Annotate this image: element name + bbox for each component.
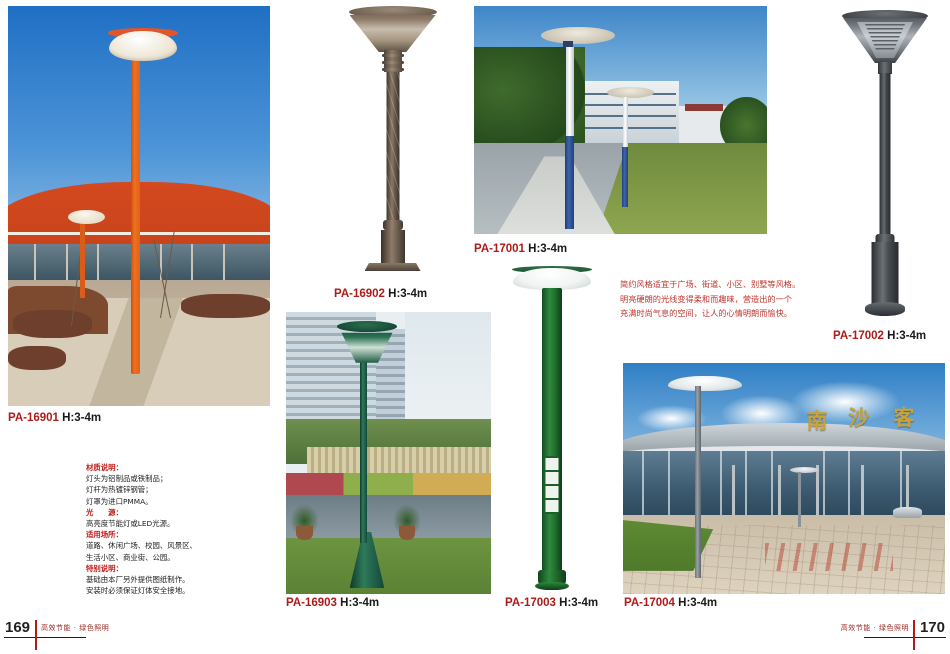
spec-special-heading: 特别说明：	[86, 563, 276, 574]
product-code: PA-16903	[286, 597, 337, 609]
lamp-pole-grey	[695, 386, 701, 578]
pole-ring	[382, 68, 404, 71]
caption-pa-17003: PA-17003 H:3-4m	[505, 597, 598, 609]
blurb-line-3: 充满时尚气息的空间，让人的心情明朗而愉快。	[620, 306, 820, 321]
pole-base-shaft	[872, 242, 899, 304]
lamp-head-dish	[513, 268, 591, 290]
spec-special-line-1: 基础由本厂另外提供图纸制作。	[86, 574, 276, 585]
footer-slogan-left: 高效节能 · 绿色照明	[37, 620, 113, 633]
structural-column	[732, 465, 735, 520]
product-photo-pa-16901	[8, 6, 270, 406]
blurb-line-2: 明亮硬朗的光线变得柔和而趣味，营造出的一个	[620, 292, 820, 307]
product-photo-pa-16903	[286, 312, 491, 594]
window-mullion	[642, 451, 644, 516]
window-mullion	[848, 451, 850, 516]
lamp-pole-blue	[565, 136, 574, 229]
flower-bed	[286, 473, 491, 496]
pole-base-plate	[365, 263, 421, 271]
spec-usage-heading: 适用场所：	[86, 529, 276, 540]
caption-pa-16901: PA-16901 H:3-4m	[8, 412, 101, 424]
spec-material-line-2: 灯杆为热镀锌钢管；	[86, 484, 276, 495]
spec-special-line-2: 安装时必须保证灯体安全接地。	[86, 585, 276, 596]
product-height: H:3-4m	[62, 412, 101, 424]
product-code: PA-17004	[624, 597, 675, 609]
spec-light-heading: 光 源：	[86, 507, 276, 518]
background-lamp-pole	[622, 147, 628, 206]
planter-pot	[296, 526, 312, 540]
lamp-head-dish	[668, 376, 742, 391]
pole-base-shaft	[381, 230, 405, 264]
secondary-building-roof	[685, 104, 723, 111]
lamp-diffuser-column	[566, 47, 574, 136]
parked-car	[893, 507, 922, 517]
pole-collar	[383, 220, 403, 230]
specification-block: 材质说明： 灯头为铝制品或铁制品； 灯杆为热镀锌钢管； 灯罩为进口PMMA。 光…	[86, 462, 276, 596]
caption-pa-17002: PA-17002 H:3-4m	[833, 330, 926, 342]
window-mullion	[771, 451, 773, 516]
page-number-left: 169	[0, 620, 35, 636]
background-lamp-diffuser	[623, 97, 628, 147]
background-lamp-pole	[80, 218, 85, 298]
product-render-pa-17003	[497, 262, 607, 594]
lamp-pole-orange	[131, 46, 140, 374]
page-number-right: 170	[915, 620, 950, 636]
structural-column	[778, 465, 781, 520]
background-lamp-pole	[798, 472, 801, 527]
hedge	[8, 346, 66, 370]
plaza-red-pattern	[765, 543, 894, 571]
product-code: PA-16901	[8, 412, 59, 424]
footer-left: 169 高效节能 · 绿色照明	[0, 620, 113, 650]
pole-twist-texture	[386, 72, 399, 222]
building-sign-char-1: 南	[807, 405, 828, 435]
window-mullion	[668, 451, 670, 516]
pole-window-grid	[546, 456, 559, 514]
product-photo-pa-17004: 南 沙 客	[623, 363, 945, 594]
window-mullion	[745, 451, 747, 516]
product-code: PA-17001	[474, 243, 525, 255]
pole-base-plate	[535, 582, 569, 590]
window-mullion	[34, 244, 36, 280]
building-sign-char-3: 客	[893, 402, 914, 432]
lamp-pole-green	[360, 357, 367, 543]
planter-pot	[399, 526, 415, 540]
product-height: H:3-4m	[340, 597, 379, 609]
product-code: PA-16902	[334, 288, 385, 300]
structural-column	[861, 465, 864, 520]
spec-light-line-1: 高亮度节能灯或LED光源。	[86, 518, 276, 529]
pole-base-plate	[865, 302, 905, 316]
spec-material-line-3: 灯罩为进口PMMA。	[86, 496, 276, 507]
spec-usage-line-1: 道路、休闲广场、校园、风景区、	[86, 540, 276, 551]
footer-slogan-right: 高效节能 · 绿色照明	[837, 620, 913, 633]
product-height: H:3-4m	[678, 597, 717, 609]
window-mullion	[720, 451, 722, 516]
window-mullion	[900, 451, 902, 516]
caption-pa-16903: PA-16903 H:3-4m	[286, 597, 379, 609]
caption-pa-17001: PA-17001 H:3-4m	[474, 243, 567, 255]
product-render-pa-17002	[822, 4, 948, 322]
product-code: PA-17002	[833, 330, 884, 342]
pole-ring	[382, 61, 404, 64]
lamp-pole-green-column	[542, 288, 562, 576]
window-mullion	[97, 244, 99, 280]
lamp-head-dish	[541, 27, 614, 44]
structural-column	[816, 465, 819, 520]
product-photo-pa-17001	[474, 6, 767, 234]
building-sign-char-2: 沙	[848, 402, 869, 432]
product-height: H:3-4m	[559, 597, 598, 609]
product-height: H:3-4m	[528, 243, 567, 255]
hedge	[181, 294, 270, 318]
window-mullion	[191, 244, 193, 280]
pergola-structure	[307, 447, 492, 472]
product-render-pa-16902	[325, 4, 460, 282]
terminal-glass-curtain-wall	[623, 451, 945, 516]
spec-material-line-1: 灯头为铝制品或铁制品；	[86, 473, 276, 484]
spec-usage-line-2: 生活小区、商业街、公园。	[86, 552, 276, 563]
window-mullion	[223, 244, 225, 280]
spec-material-heading: 材质说明：	[86, 462, 276, 473]
catalog-page: PA-16901 H:3-4m PA-16902 H:3-4m	[0, 0, 950, 654]
product-height: H:3-4m	[388, 288, 427, 300]
caption-pa-17004: PA-17004 H:3-4m	[624, 597, 717, 609]
hedge	[13, 310, 92, 338]
pole-ring	[382, 54, 404, 57]
product-height: H:3-4m	[887, 330, 926, 342]
caption-pa-16902: PA-16902 H:3-4m	[334, 288, 427, 300]
window-mullion	[66, 244, 68, 280]
lamp-pole-grey	[880, 73, 891, 236]
background-lamp-head	[790, 467, 819, 473]
lawn	[286, 538, 491, 594]
product-code: PA-17003	[505, 597, 556, 609]
footer-right: 高效节能 · 绿色照明 170	[837, 620, 950, 650]
lamp-head-dome	[109, 31, 177, 61]
window-mullion	[823, 451, 825, 516]
marketing-blurb: 简约风格适宜于广场、街道、小区、别墅等风格。 明亮硬朗的光线变得柔和而趣味，营造…	[620, 277, 820, 321]
blurb-line-1: 简约风格适宜于广场、街道、小区、别墅等风格。	[620, 277, 820, 292]
